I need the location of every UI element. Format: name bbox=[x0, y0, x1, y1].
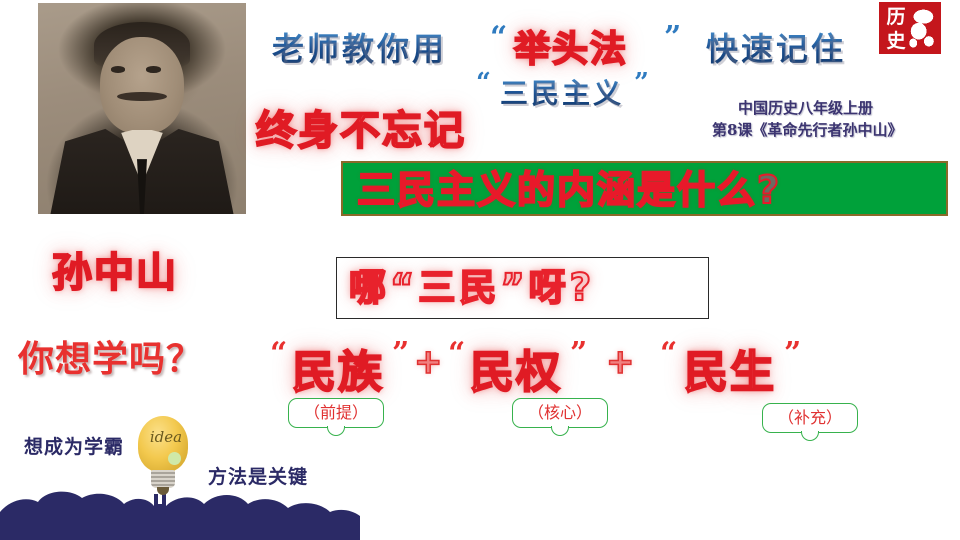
callout-notch bbox=[801, 431, 819, 441]
quote-open-icon-minsheng: “ bbox=[660, 336, 677, 371]
quote-close-icon-minzu: ” bbox=[392, 336, 409, 371]
portrait-eye-left bbox=[111, 66, 126, 72]
sub-question-box: 哪“三民”呀? bbox=[336, 257, 709, 319]
headline-emphasis-method: 举头法 bbox=[514, 20, 628, 72]
quote-open-icon-2: “ bbox=[476, 68, 491, 98]
principle-term-minsheng: 民生 bbox=[684, 336, 776, 400]
plus-operator-1: + bbox=[414, 342, 443, 382]
portrait-face bbox=[100, 37, 183, 134]
quote-close-icon-2: ” bbox=[634, 68, 649, 98]
horse-icon bbox=[903, 7, 937, 51]
lightbulb-base bbox=[151, 470, 175, 488]
portrait-eye-right bbox=[146, 66, 161, 72]
callout-minzu: （前提） bbox=[288, 398, 384, 428]
label-want-to-learn: 你想学吗？ bbox=[18, 330, 203, 382]
lightbulb-highlight bbox=[168, 452, 181, 465]
headline-line1-part1: 老师教你用 bbox=[272, 24, 447, 70]
callout-minquan: （核心） bbox=[512, 398, 608, 428]
main-question-banner: 三民主义的内涵是什么? bbox=[341, 161, 948, 216]
headline-line1-part2: 快速记住 bbox=[706, 24, 846, 70]
quote-close-icon-minsheng: ” bbox=[784, 336, 801, 371]
label-sun-yat-sen-name: 孙中山 bbox=[52, 240, 178, 298]
quote-open-icon-minzu: “ bbox=[270, 336, 287, 371]
callout-minsheng: （补充） bbox=[762, 403, 858, 433]
callout-minzu-text: （前提） bbox=[289, 401, 383, 425]
course-subtitle-line1: 中国历史八年级上册 bbox=[738, 97, 873, 118]
quote-close-icon-1: ” bbox=[664, 20, 681, 55]
callout-minsheng-text: （补充） bbox=[763, 406, 857, 430]
quote-close-icon-minquan: ” bbox=[570, 336, 587, 371]
callout-notch bbox=[551, 426, 569, 436]
sub-question-text: 哪“三民”呀? bbox=[349, 260, 595, 316]
callout-minquan-text: （核心） bbox=[513, 401, 607, 425]
headline-emphasis-sanminzhuyi: 三民主义 bbox=[500, 72, 624, 112]
quote-open-icon-minquan: “ bbox=[448, 336, 465, 371]
principle-term-minzu: 民族 bbox=[292, 336, 384, 400]
footer-right-text: 方法是关键 bbox=[208, 462, 308, 489]
course-subtitle-line2: 第8课《革命先行者孙中山》 bbox=[712, 119, 902, 140]
callout-notch bbox=[327, 426, 345, 436]
lightbulb-idea-label: idea bbox=[143, 428, 189, 446]
sun-yat-sen-portrait bbox=[38, 3, 246, 214]
quote-open-icon-1: “ bbox=[490, 20, 507, 55]
principle-term-minquan: 民权 bbox=[470, 336, 562, 400]
history-seal-icon: 历史 bbox=[879, 2, 941, 54]
hills-decoration-icon bbox=[0, 482, 360, 540]
portrait-mustache bbox=[117, 92, 167, 101]
headline-line3: 终身不忘记 bbox=[256, 98, 466, 156]
slide-canvas: 历史 老师教你用 “ 举头法 ” 快速记住 “ 三民主义 ” 终身不忘记 中国历… bbox=[0, 0, 960, 540]
plus-operator-2: + bbox=[606, 342, 635, 382]
footer-left-text: 想成为学霸 bbox=[24, 432, 124, 459]
main-question-text: 三民主义的内涵是什么? bbox=[357, 166, 781, 214]
